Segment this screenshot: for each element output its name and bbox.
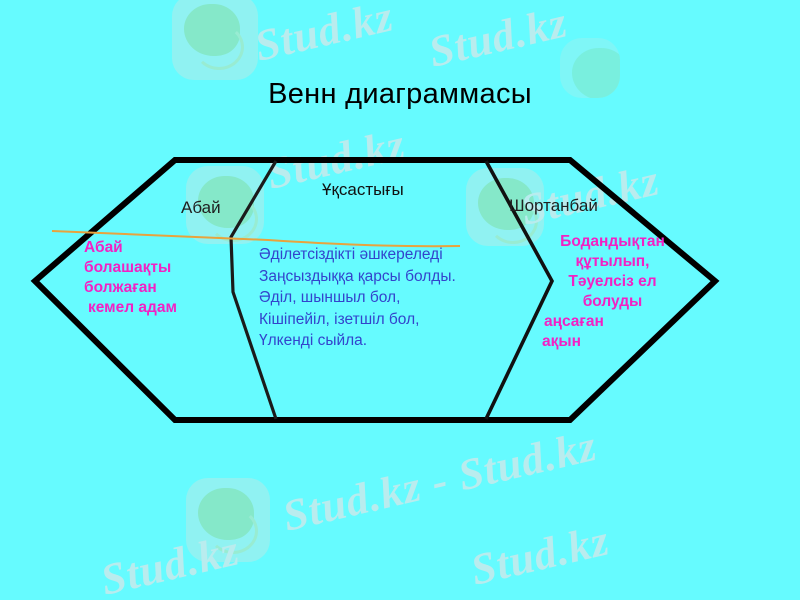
right-line: аңсаған: [540, 312, 685, 332]
left-line: кемел адам: [84, 298, 219, 318]
slide-canvas: Stud.kz Stud.kz Stud.kz Stud.kz Stud.kz …: [0, 0, 800, 600]
venn-label-intersection: Ұқсастығы: [322, 180, 404, 200]
slide-title: Венн диаграммасы: [0, 78, 800, 111]
right-line: Бодандықтан: [540, 232, 685, 252]
left-line: болжаған: [84, 278, 219, 298]
right-line: Тәуелсіз ел: [540, 272, 685, 292]
venn-center-text-block: Әділетсіздікті әшкереледі Заңсыздыққа қа…: [259, 244, 509, 352]
right-line: ақын: [540, 332, 685, 352]
center-line: Әділетсіздікті әшкереледі: [259, 244, 509, 266]
left-line: Абай: [84, 238, 219, 258]
venn-left-text-block: Абай болашақты болжаған кемел адам: [84, 238, 219, 318]
venn-right-text-block: Бодандықтан құтылып, Тәуелсіз ел болуды …: [540, 232, 685, 352]
venn-label-shortanbay: Шортанбай: [509, 196, 598, 216]
center-line: Кішіпейіл, ізетшіл бол,: [259, 309, 509, 331]
venn-label-abay: Абай: [181, 198, 221, 218]
center-line: Заңсыздыққа қарсы болды.: [259, 266, 509, 288]
right-line: болуды: [540, 292, 685, 312]
right-line: құтылып,: [540, 252, 685, 272]
left-line: болашақты: [84, 258, 219, 278]
center-line: Үлкенді сыйла.: [259, 330, 509, 352]
center-line: Әділ, шыншыл бол,: [259, 287, 509, 309]
